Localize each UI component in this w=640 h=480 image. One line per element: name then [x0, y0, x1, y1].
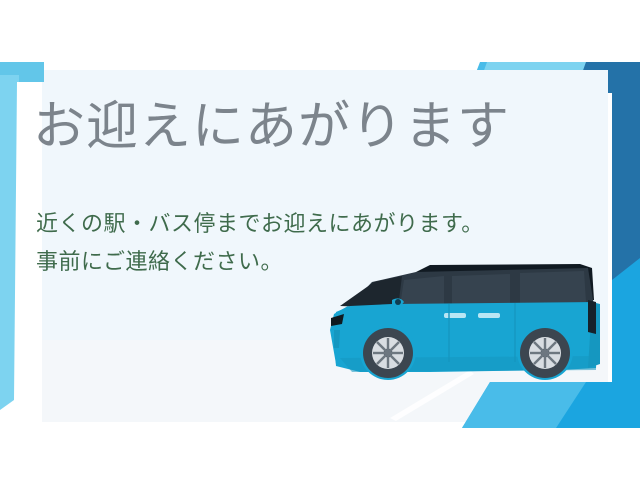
car-window-front — [400, 276, 444, 306]
car-window-rear — [520, 271, 586, 303]
car-wheel-rear — [520, 328, 570, 378]
car-spokes-front — [373, 338, 403, 368]
car-window-middle — [452, 274, 510, 304]
car-door-handle-front — [444, 313, 466, 318]
banner-canvas: お迎えにあがります 近くの駅・バス停までお迎えにあがります。 事前にご連絡くださ… — [0, 0, 640, 480]
banner-graphic — [0, 0, 640, 480]
car-front-vent — [334, 330, 340, 348]
car-mirror-glass — [395, 299, 401, 305]
page-footer-space — [0, 428, 640, 480]
car-wheel-front — [363, 328, 413, 378]
page-header-space — [0, 0, 640, 60]
car-taillight — [588, 300, 596, 334]
car-spokes-rear — [530, 338, 560, 368]
accent-strip-bright-right-lower — [612, 276, 640, 428]
car-door-handle-rear — [478, 313, 500, 318]
